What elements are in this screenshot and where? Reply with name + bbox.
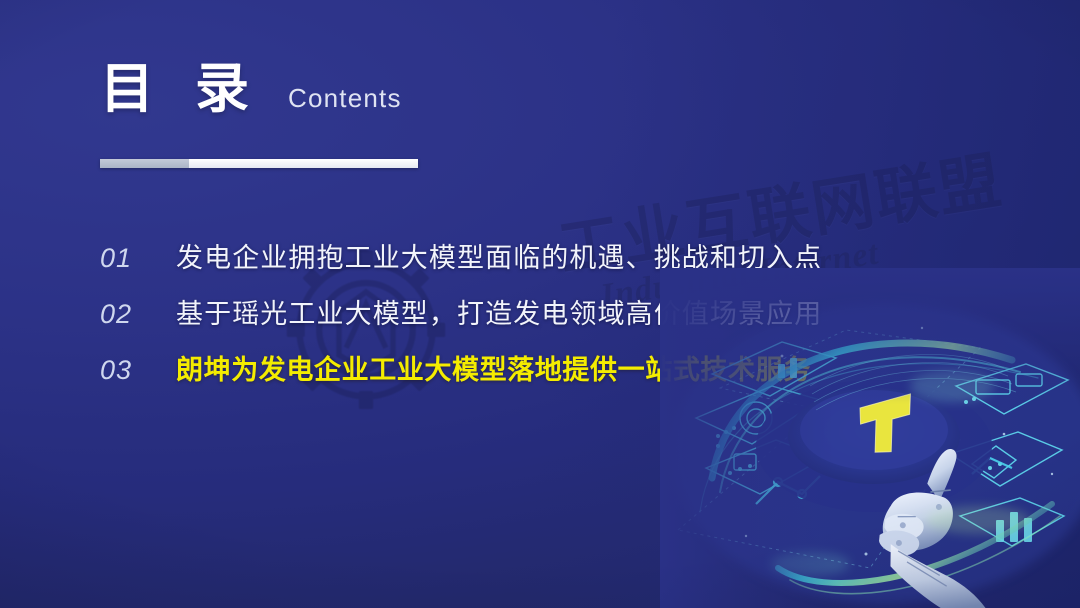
slide-vignette [0,0,1080,608]
contents-slide: 工业互联网联盟 Industrial Internet 目 录 Contents… [0,0,1080,608]
